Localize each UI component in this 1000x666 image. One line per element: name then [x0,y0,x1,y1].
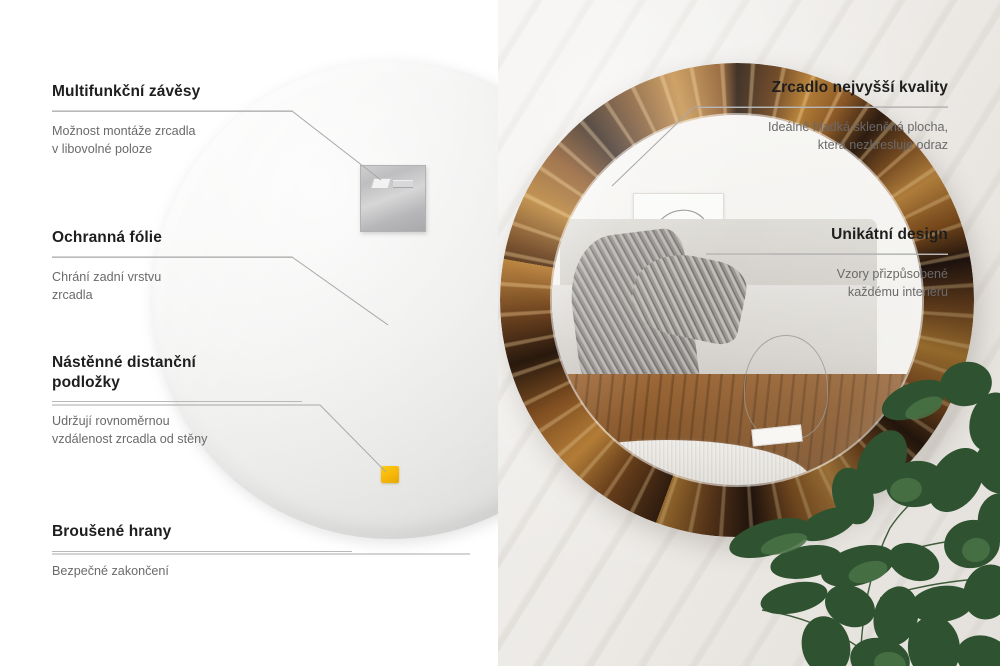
callout-body-line1: Bezpečné zakončení [52,562,352,580]
callout-rule [52,551,352,552]
callout-rule [52,401,302,402]
callout-body-line1: Ideálně hladká skleněná plocha, [700,118,948,136]
product-infographic: Multifunkční závěsy Možnost montáže zrca… [0,0,1000,666]
callout-body-line2: v libovolné poloze [52,140,292,158]
callout-body-line1: Udržují rovnoměrnou [52,412,302,430]
callout-title: Ochranná fólie [52,228,292,248]
callout-brousene-hrany: Broušené hrany Bezpečné zakončení [52,522,352,580]
callout-body-line2: každému interiéru [770,283,948,301]
callout-body-line2: zrcadla [52,286,292,304]
callout-rule [52,257,292,258]
plant-foliage [710,348,1000,666]
bracket-keyhole-slot-icon [370,178,391,189]
callout-rule [770,254,948,255]
callout-title-line2: podložky [52,373,302,393]
callout-rule [700,107,948,108]
callout-rule [52,111,292,112]
callout-body-line1: Vzory přizpůsobené [770,265,948,283]
callout-body-line2: která nezkresluje odraz [700,136,948,154]
callout-body-line1: Možnost montáže zrcadla [52,122,292,140]
callout-body-line1: Chrání zadní vrstvu [52,268,292,286]
callout-unikatni-design: Unikátní design Vzory přizpůsobené každé… [770,225,948,301]
callout-nastenne-distancni-podlozky: Nástěnné distanční podložky Udržují rovn… [52,353,302,449]
callout-zrcadlo-nejvyssi-kvality: Zrcadlo nejvyšší kvality Ideálně hladká … [700,78,948,154]
callout-title: Unikátní design [770,225,948,245]
callout-multifunkcni-zavesy: Multifunkční závěsy Možnost montáže zrca… [52,82,292,158]
callout-title: Zrcadlo nejvyšší kvality [700,78,948,98]
callout-title: Multifunkční závěsy [52,82,292,102]
callout-title-line1: Nástěnné distanční [52,353,302,373]
spacer-pad [381,466,399,483]
bracket-rail-slot-icon [393,180,413,188]
callout-body-line2: vzdálenost zrcadla od stěny [52,430,302,448]
hanging-bracket [360,165,426,232]
callout-ochranna-folie: Ochranná fólie Chrání zadní vrstvu zrcad… [52,228,292,304]
callout-title: Broušené hrany [52,522,352,542]
